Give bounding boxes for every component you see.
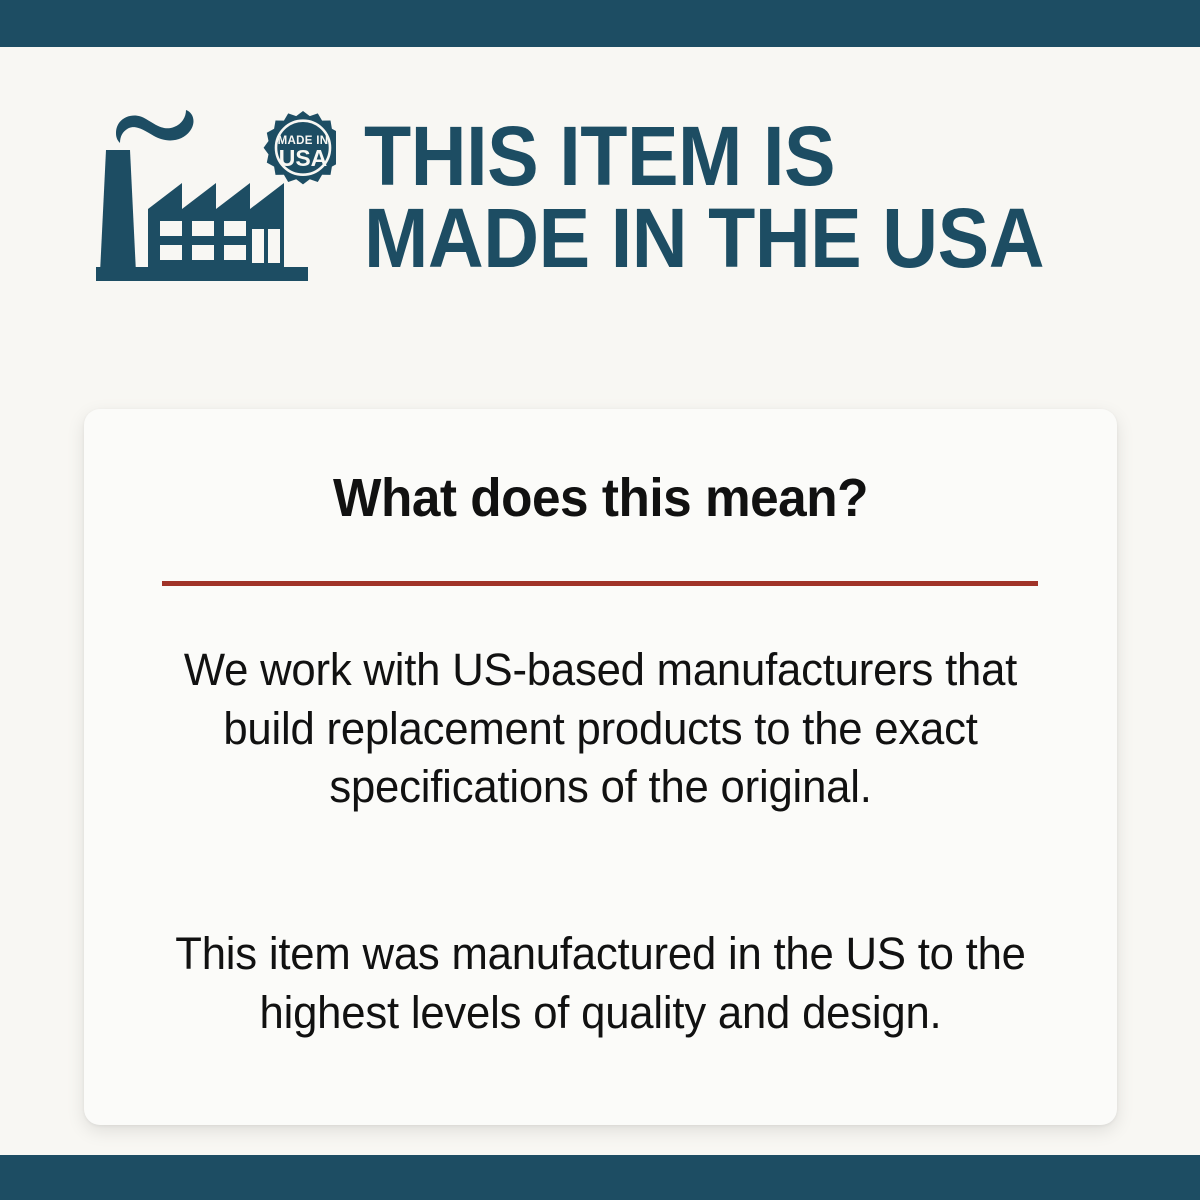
card-paragraph-1: We work with US-based manufacturers that… xyxy=(156,641,1045,817)
title-divider xyxy=(162,581,1038,586)
headline-line-2: MADE IN THE USA xyxy=(364,197,1044,279)
headline-line-1: THIS ITEM IS xyxy=(364,115,1044,197)
top-accent-bar xyxy=(0,0,1200,47)
info-card: What does this mean? We work with US-bas… xyxy=(84,409,1117,1125)
svg-text:USA: USA xyxy=(279,145,328,171)
factory-icon: MADE IN USA xyxy=(96,105,336,290)
header: MADE IN USA THIS ITEM IS MADE IN THE USA xyxy=(96,102,1146,292)
page-headline: THIS ITEM IS MADE IN THE USA xyxy=(364,115,1044,280)
page-canvas: MADE IN USA THIS ITEM IS MADE IN THE USA… xyxy=(0,47,1200,1155)
card-paragraph-2: This item was manufactured in the US to … xyxy=(156,925,1045,1042)
bottom-accent-bar xyxy=(0,1155,1200,1200)
card-title: What does this mean? xyxy=(110,471,1091,525)
